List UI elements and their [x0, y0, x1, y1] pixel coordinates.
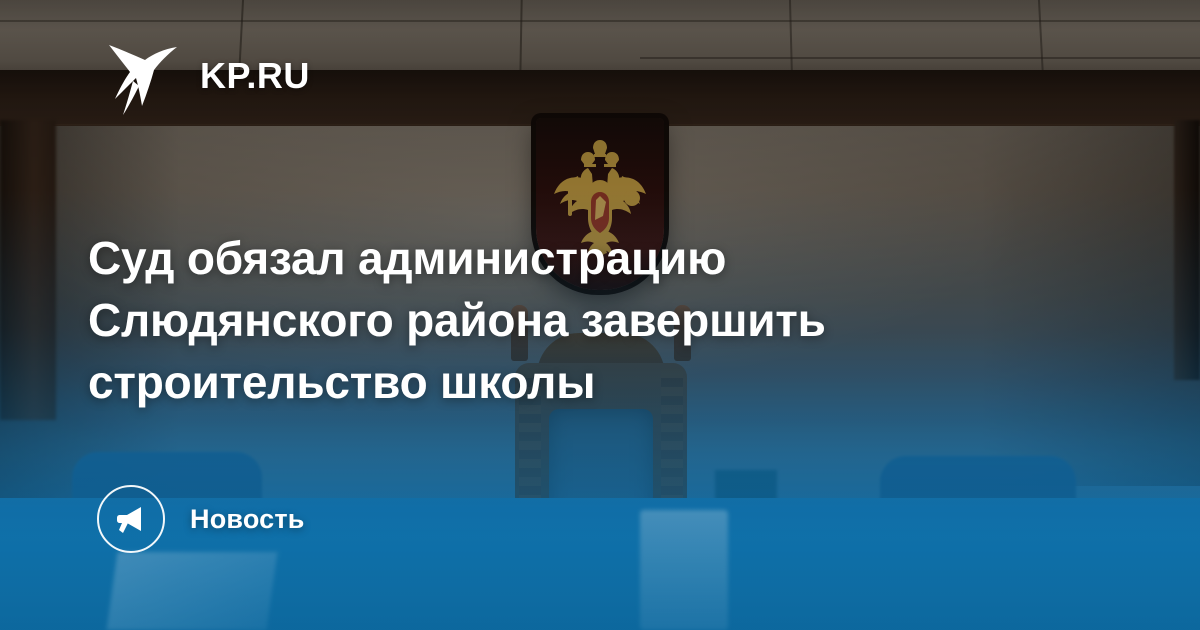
share-card: KP.RU Суд обязал администрацию Слюдянско…	[0, 0, 1200, 630]
status-badge[interactable]: Новость	[97, 485, 305, 553]
card-content: KP.RU Суд обязал администрацию Слюдянско…	[0, 0, 1200, 630]
brand-name: KP.RU	[200, 58, 310, 94]
badge-icon-circle	[97, 485, 165, 553]
page-title: Суд обязал администрацию Слюдянского рай…	[88, 227, 1048, 413]
badge-label: Новость	[190, 506, 305, 533]
swallow-bird-icon	[106, 36, 180, 116]
megaphone-icon	[114, 502, 148, 536]
brand-logo[interactable]: KP.RU	[106, 36, 310, 116]
